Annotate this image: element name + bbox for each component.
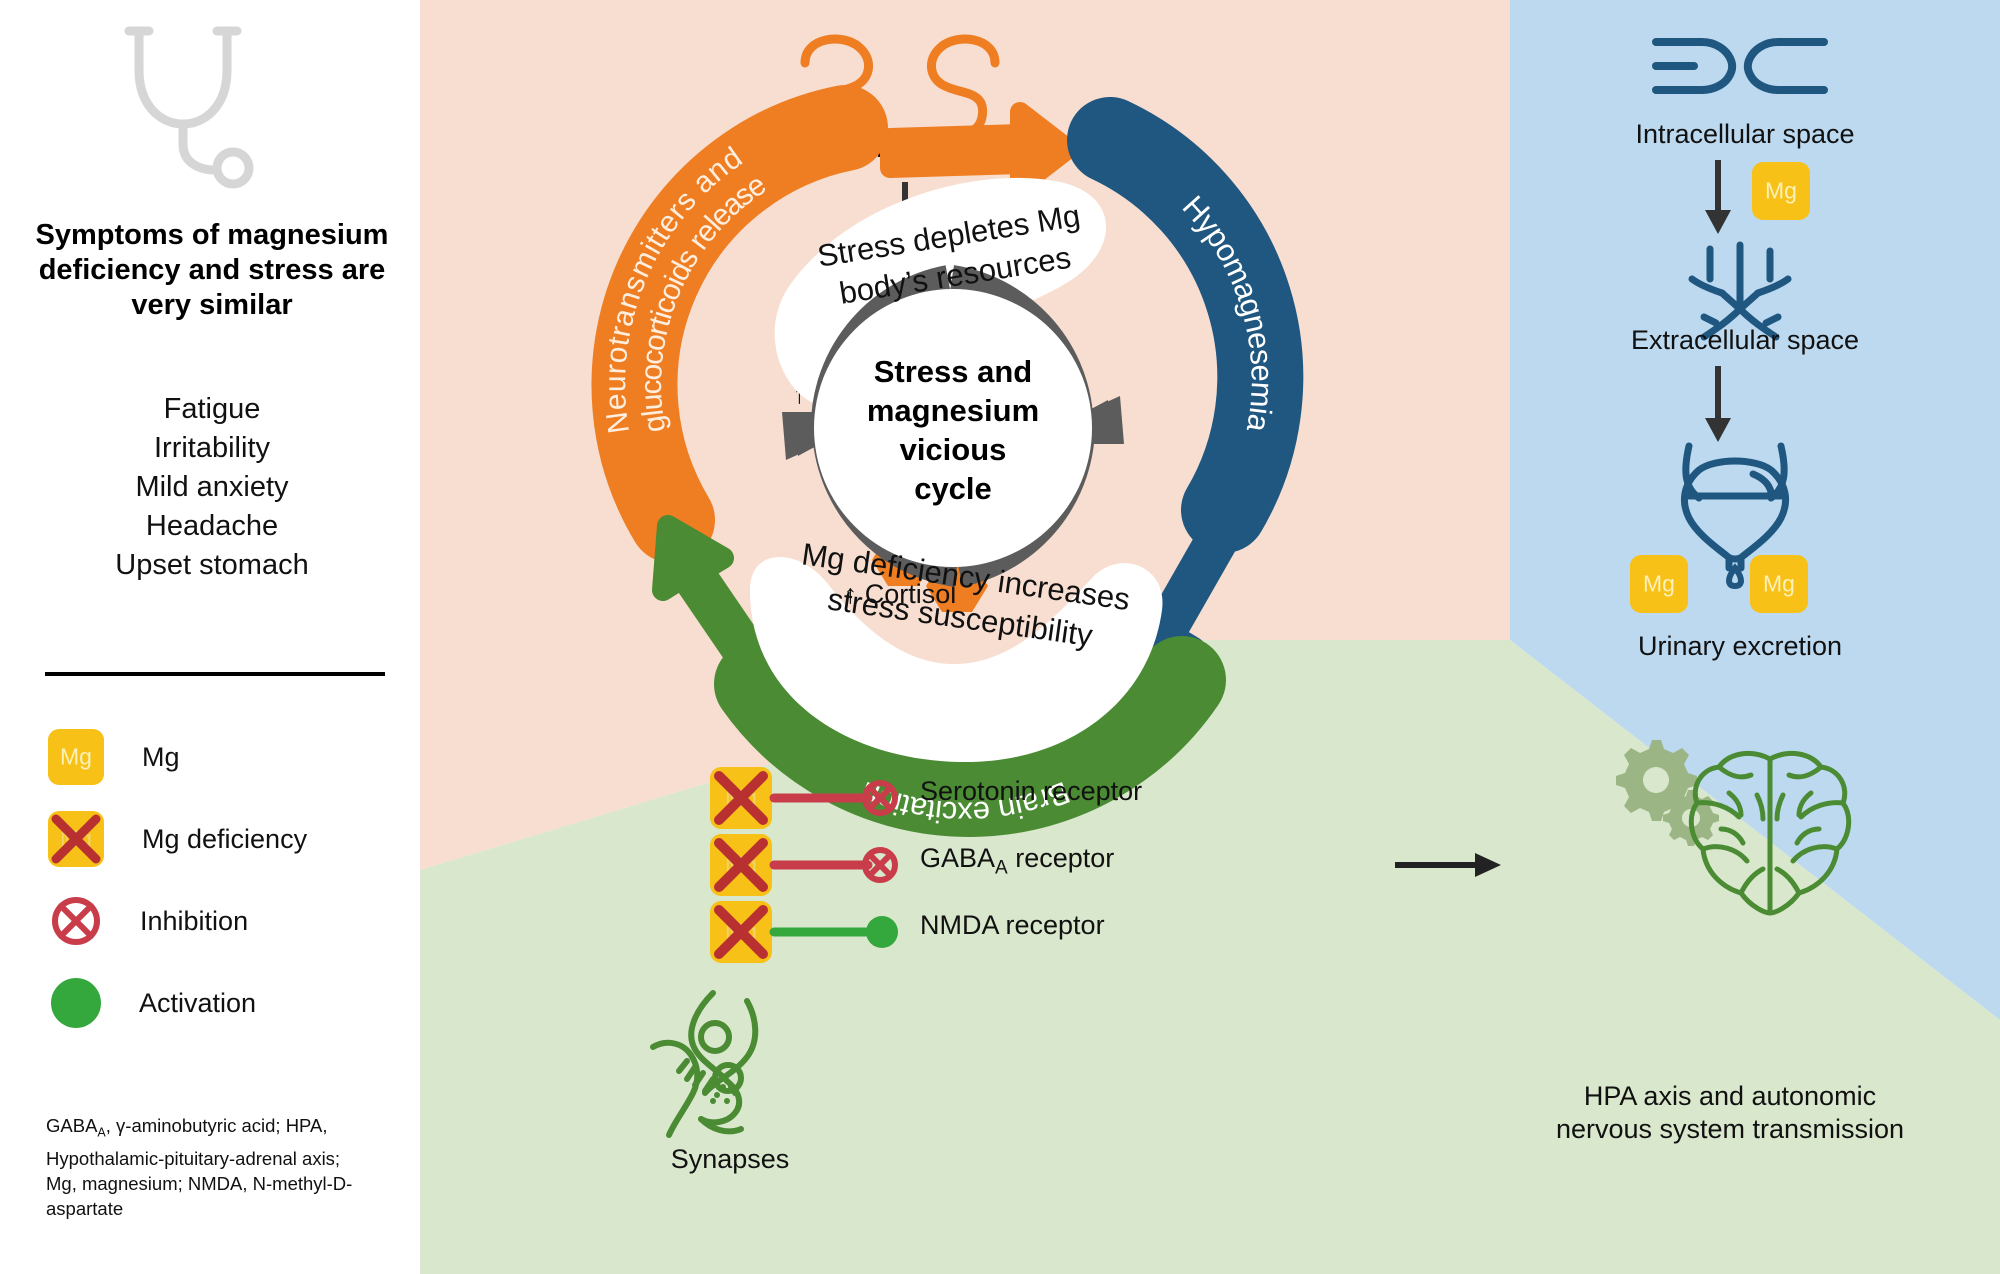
infographic-root: Symptoms of magnesium deficiency and str… [0, 0, 2000, 1274]
list-item: Mild anxiety [12, 468, 412, 507]
gaba-base: GABA [920, 843, 995, 873]
stethoscope-icon [115, 18, 275, 188]
legend-item-inhibition: Inhibition [48, 880, 398, 962]
synapses-label: Synapses [620, 1143, 840, 1176]
activation-connector-nmda [772, 914, 902, 950]
receptor-label-nmda: NMDA receptor [920, 909, 1340, 942]
mg-deficiency-icon: Mg [710, 834, 772, 896]
list-item: Irritability [12, 429, 412, 468]
gaba-tail: receptor [1008, 843, 1115, 873]
inhibition-connector-gaba [772, 847, 902, 883]
mg-chip-label: Mg [48, 746, 104, 769]
green-arrow-head [663, 526, 763, 666]
footnote-gaba: GABA [46, 1115, 97, 1136]
footnote-gaba-subscript: A [97, 1126, 105, 1140]
inhibition-connector-serotonin [772, 780, 902, 816]
legend: Mg Mg Mg Mg deficiency [48, 716, 398, 1044]
legend-label: Activation [139, 988, 256, 1019]
mg-deficiency-icon: Mg [710, 767, 772, 829]
activation-icon [51, 978, 101, 1028]
red-x-icon [707, 831, 775, 899]
legend-label: Mg deficiency [142, 824, 307, 855]
legend-item-mg: Mg Mg [48, 716, 398, 798]
blue-arc [1110, 140, 1260, 510]
list-item: Upset stomach [12, 546, 412, 585]
legend-item-mg-deficiency: Mg Mg deficiency [48, 798, 398, 880]
legend-label: Inhibition [140, 906, 248, 937]
mg-deficiency-icon: Mg [48, 811, 104, 867]
receptor-label-gaba: GABAA receptor [920, 842, 1340, 884]
gaba-subscript: A [995, 857, 1008, 878]
synapse-icon [635, 985, 825, 1150]
mg-deficiency-icon: Mg [710, 901, 772, 963]
divider [45, 672, 385, 676]
symptom-list: Fatigue Irritability Mild anxiety Headac… [12, 390, 412, 585]
red-x-icon [707, 898, 775, 966]
list-item: Fatigue [12, 390, 412, 429]
diagram: Adrenal glands ↑ Catecholamines (noradre… [420, 0, 2000, 1274]
legend-label: Mg [142, 742, 180, 773]
red-x-icon [707, 764, 775, 832]
page-title: Symptoms of magnesium deficiency and str… [12, 218, 412, 323]
list-item: Headache [12, 507, 412, 546]
orange-arrow-head [890, 112, 1068, 186]
footnote: GABAA, γ-aminobutyric acid; HPA, Hypotha… [46, 1113, 376, 1221]
inhibition-icon [50, 895, 102, 947]
hpa-axis-label: HPA axis and autonomic nervous system tr… [1510, 1080, 1950, 1146]
brain-icon [1685, 745, 1855, 920]
mg-chip-icon: Mg [48, 729, 104, 785]
left-panel: Symptoms of magnesium deficiency and str… [0, 0, 420, 1274]
red-x-icon [45, 808, 107, 870]
arrow-right-brain-icon [1395, 845, 1505, 885]
legend-item-activation: Activation [48, 962, 398, 1044]
receptor-label-serotonin: Serotonin receptor [920, 775, 1340, 808]
